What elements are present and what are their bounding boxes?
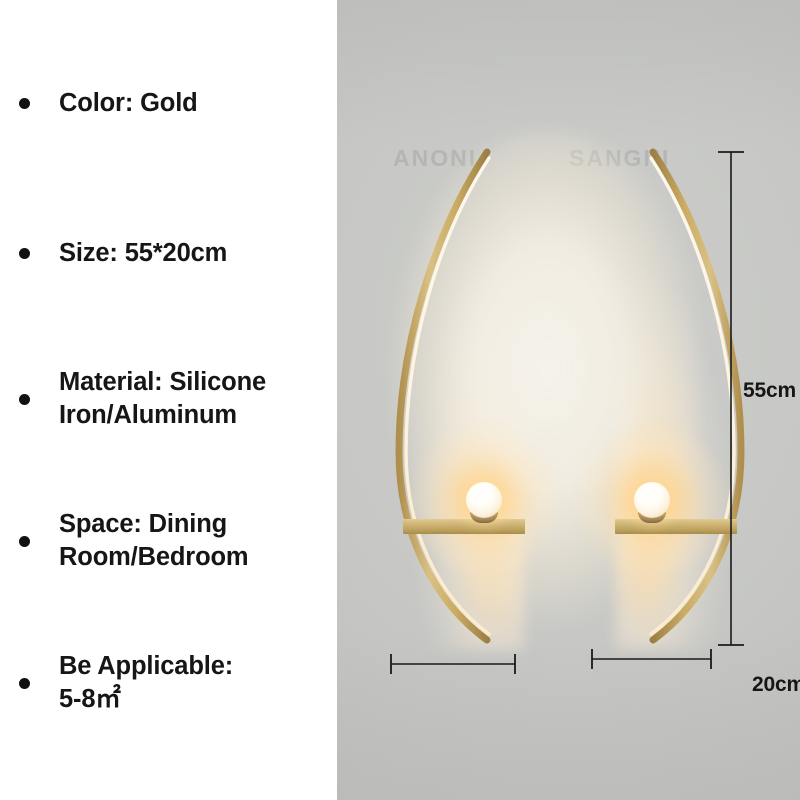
bullet-dot-icon — [19, 536, 30, 547]
spec-item-material: Material: Silicone Iron/Aluminum — [0, 358, 337, 440]
product-photo-panel: ANONI SANGHI — [337, 0, 800, 800]
specification-panel: Color: Gold Size: 55*20cm Material: Sili… — [0, 0, 337, 800]
spec-label-size: Size: 55*20cm — [59, 237, 337, 270]
bullet-dot-icon — [19, 394, 30, 405]
spec-item-color: Color: Gold — [0, 78, 337, 128]
dimension-annotations — [337, 0, 800, 800]
bullet-dot-icon — [19, 678, 30, 689]
spec-label-material: Material: Silicone Iron/Aluminum — [59, 366, 337, 431]
spec-label-applicable: Be Applicable: 5-8㎡ — [59, 650, 337, 715]
spec-item-space: Space: Dining Room/Bedroom — [0, 500, 337, 582]
bullet-dot-icon — [19, 98, 30, 109]
spec-label-color: Color: Gold — [59, 87, 337, 120]
product-spec-image: Color: Gold Size: 55*20cm Material: Sili… — [0, 0, 800, 800]
spec-item-applicable: Be Applicable: 5-8㎡ — [0, 642, 337, 724]
spec-label-space: Space: Dining Room/Bedroom — [59, 508, 337, 573]
dimension-label-height: 55cm — [743, 379, 796, 403]
dimension-label-width-left: 20cm — [752, 673, 800, 697]
bullet-dot-icon — [19, 248, 30, 259]
specification-list: Color: Gold Size: 55*20cm Material: Sili… — [0, 0, 337, 800]
spec-item-size: Size: 55*20cm — [0, 228, 337, 278]
